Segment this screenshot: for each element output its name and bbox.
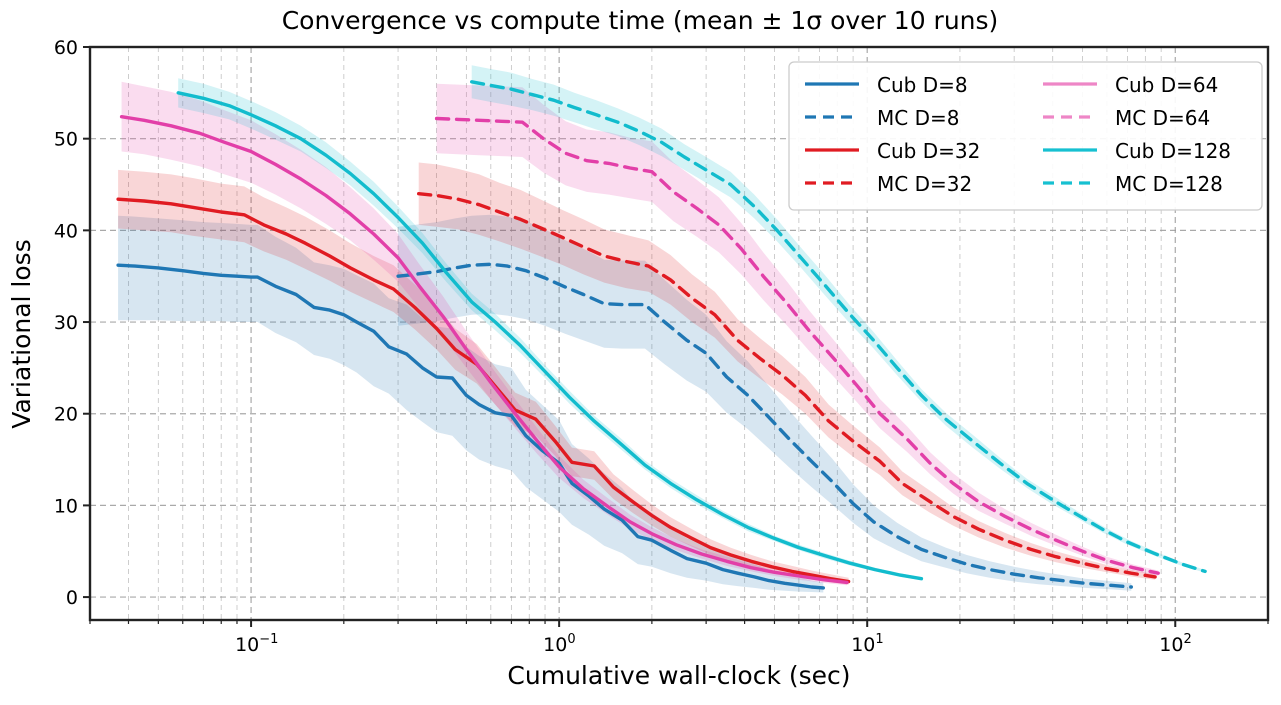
legend-label: MC D=32 (877, 172, 972, 196)
x-axis-label: Cumulative wall-clock (sec) (507, 661, 850, 690)
y-tick-label: 10 (54, 495, 78, 517)
y-tick-label: 30 (54, 312, 78, 334)
legend-label: MC D=8 (877, 106, 959, 130)
chart-title: Convergence vs compute time (mean ± 1σ o… (282, 6, 999, 35)
chart-figure: 10−11001011020102030405060 Convergence v… (0, 0, 1281, 705)
legend[interactable]: Cub D=8MC D=8Cub D=32MC D=32Cub D=64MC D… (789, 62, 1262, 210)
legend-label: Cub D=64 (1115, 73, 1218, 97)
legend-label: MC D=64 (1115, 106, 1210, 130)
legend-label: Cub D=32 (877, 139, 980, 163)
y-axis-label: Variational loss (7, 239, 36, 428)
chart-canvas: 10−11001011020102030405060 Convergence v… (0, 0, 1281, 705)
y-tick-label: 50 (54, 129, 78, 151)
legend-label: Cub D=8 (877, 73, 968, 97)
legend-label: MC D=128 (1115, 172, 1223, 196)
y-tick-label: 40 (54, 220, 78, 242)
y-tick-label: 0 (66, 587, 78, 609)
y-tick-label: 20 (54, 404, 78, 426)
y-tick-label: 60 (54, 37, 78, 59)
legend-label: Cub D=128 (1115, 139, 1231, 163)
